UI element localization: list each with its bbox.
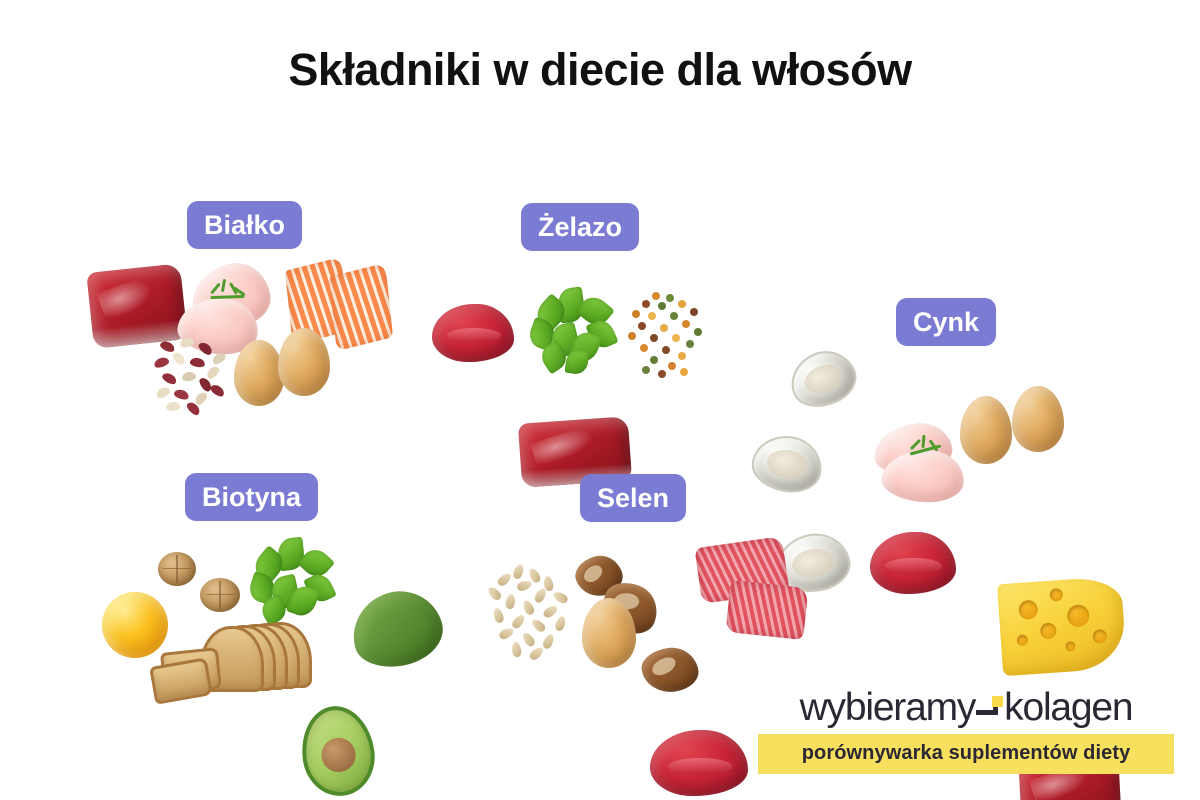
egg-food-icon: [1012, 386, 1064, 452]
salmon-fillet-food-icon: [329, 263, 393, 351]
walnut-food-icon: [200, 578, 240, 612]
logo-mark-yellow-square: [992, 696, 1003, 707]
oyster-food-icon: [782, 342, 863, 417]
liver-food-icon: [432, 304, 514, 362]
logo-tagline: porównywarka suplementów diety: [758, 734, 1174, 774]
nutrient-badge-biotyna[interactable]: Biotyna: [185, 473, 318, 521]
swiss-cheese-food-icon: [997, 576, 1127, 676]
brazil-nut-food-icon: [639, 644, 701, 695]
sunflower-seeds-food-icon: [484, 564, 580, 654]
nutrient-badge-bialko[interactable]: Białko: [187, 201, 302, 249]
mixed-beans-food-icon: [150, 334, 236, 410]
nutrient-badge-selen[interactable]: Selen: [580, 474, 686, 522]
logo-word-left: wybieramy: [800, 688, 976, 727]
nutrient-badge-cynk[interactable]: Cynk: [896, 298, 996, 346]
food-group-bialko: [82, 258, 412, 418]
brand-logo[interactable]: wybieramy kolagen porównywarka suplement…: [758, 688, 1174, 774]
avocado-half-food-icon: [296, 701, 380, 800]
liver-food-icon: [650, 730, 748, 796]
food-group-selen: [484, 540, 814, 675]
logo-mark-icon: [976, 695, 1002, 721]
lentils-food-icon: [624, 290, 708, 382]
page-title: Składniki w diecie dla włosów: [0, 44, 1200, 96]
logo-word-right: kolagen: [1004, 688, 1132, 727]
rosemary-sprig-icon: [208, 280, 248, 300]
food-group-zelazo: [428, 288, 718, 428]
spinach-leaves-food-icon: [528, 288, 618, 374]
nutrient-badge-label: Biotyna: [202, 482, 301, 513]
tuna-steak-food-icon: [725, 580, 808, 640]
liver-food-icon: [870, 532, 956, 594]
whole-grain-bread-food-icon: [152, 622, 342, 700]
logo-wordmark: wybieramy kolagen: [758, 688, 1174, 727]
egg-food-icon: [234, 340, 284, 406]
avocado-whole-food-icon: [344, 582, 449, 676]
nutrient-badge-zelazo[interactable]: Żelazo: [521, 203, 639, 251]
egg-food-icon: [960, 396, 1012, 464]
oyster-food-icon: [748, 431, 825, 496]
nutrient-badge-label: Żelazo: [538, 212, 622, 243]
food-group-biotyna: [96, 530, 436, 700]
nutrient-badge-label: Cynk: [913, 307, 979, 338]
rosemary-sprig-icon: [906, 436, 946, 456]
egg-food-icon: [278, 328, 330, 396]
food-group-cynk: [748, 350, 1128, 510]
walnut-food-icon: [158, 552, 196, 586]
spinach-leaves-food-icon: [248, 538, 336, 624]
infographic-canvas: Składniki w diecie dla włosów Białko: [0, 0, 1200, 800]
nutrient-badge-label: Białko: [204, 210, 285, 241]
nutrient-badge-label: Selen: [597, 483, 669, 514]
